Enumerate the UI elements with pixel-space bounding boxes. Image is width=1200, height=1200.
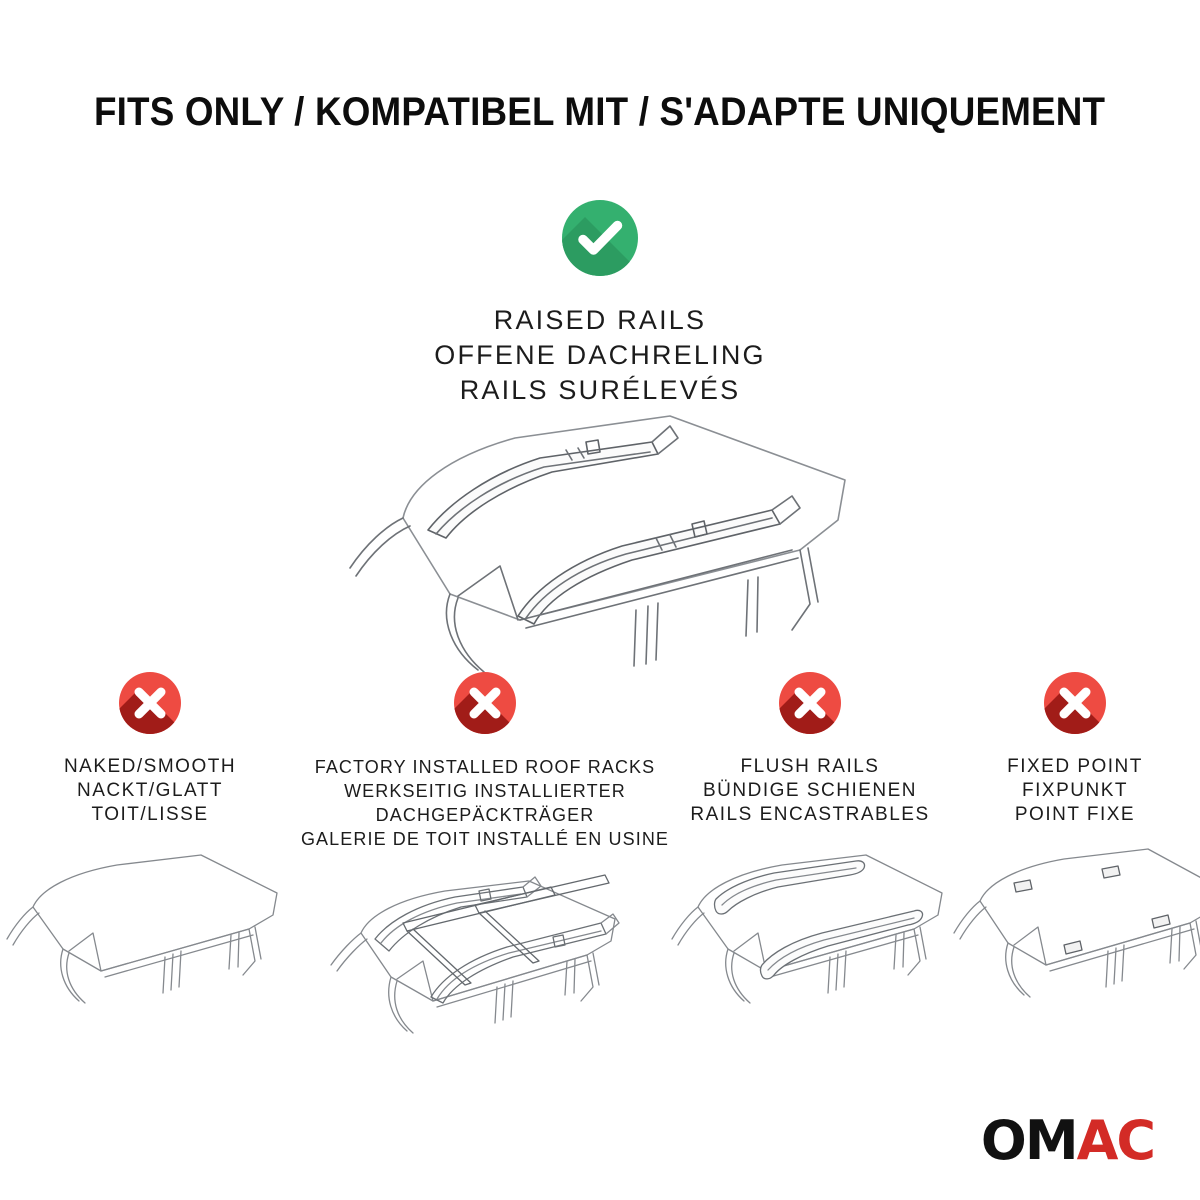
incompatible-section: NAKED/SMOOTH NACKT/GLATT TOIT/LISSE (0, 672, 1200, 1081)
flush-rails-illustration (670, 837, 950, 1057)
label-fr: POINT FIXE (950, 803, 1200, 827)
label-fr: GALERIE DE TOIT INSTALLÉ EN USINE (300, 827, 670, 851)
bare-roof-illustration (0, 837, 300, 1057)
omac-logo-part1: OM (981, 1109, 1077, 1172)
x-mark-glyph (1044, 672, 1106, 734)
x-circle-icon (454, 672, 516, 734)
compatible-section: RAISED RAILS OFFENE DACHRELING RAILS SUR… (0, 200, 1200, 408)
page-title-text: FITS ONLY / KOMPATIBEL MIT / S'ADAPTE UN… (94, 88, 1105, 136)
x-mark-glyph (119, 672, 181, 734)
incompatible-column-naked-smooth: NAKED/SMOOTH NACKT/GLATT TOIT/LISSE (0, 672, 300, 1057)
x-circle-icon (779, 672, 841, 734)
car-roof-factory-crossbars-drawing (315, 861, 655, 1071)
compatible-label-de: OFFENE DACHRELING (0, 338, 1200, 373)
incompatible-labels: NAKED/SMOOTH NACKT/GLATT TOIT/LISSE (0, 755, 300, 827)
incompatible-labels: FLUSH RAILS BÜNDIGE SCHIENEN RAILS ENCAS… (670, 755, 950, 827)
car-roof-flush-rails-drawing (670, 837, 960, 1047)
x-circle-icon (1044, 672, 1106, 734)
label-de: FIXPUNKT (950, 779, 1200, 803)
incompatible-labels: FACTORY INSTALLED ROOF RACKS WERKSEITIG … (300, 755, 670, 851)
incompatible-column-fixed-point: FIXED POINT FIXPUNKT POINT FIXE (950, 672, 1200, 1057)
label-en: NAKED/SMOOTH (0, 755, 300, 779)
car-roof-raised-rails-drawing (340, 398, 860, 678)
factory-racks-illustration (300, 861, 670, 1081)
label-de-1: WERKSEITIG INSTALLIERTER (300, 779, 670, 803)
omac-logo: OMAC (981, 1114, 1154, 1168)
raised-rails-illustration (340, 398, 860, 678)
label-en: FIXED POINT (950, 755, 1200, 779)
compatible-label-en: RAISED RAILS (0, 303, 1200, 338)
incompatible-labels: FIXED POINT FIXPUNKT POINT FIXE (950, 755, 1200, 827)
page-title: FITS ONLY / KOMPATIBEL MIT / S'ADAPTE UN… (0, 88, 1200, 136)
incompatible-column-factory-racks: FACTORY INSTALLED ROOF RACKS WERKSEITIG … (300, 672, 670, 1081)
check-circle-icon (562, 200, 638, 276)
fixed-point-illustration (950, 837, 1200, 1057)
incompatible-column-flush-rails: FLUSH RAILS BÜNDIGE SCHIENEN RAILS ENCAS… (670, 672, 950, 1057)
check-mark-glyph (562, 200, 638, 276)
label-de: NACKT/GLATT (0, 779, 300, 803)
label-de-2: DACHGEPÄCKTRÄGER (300, 803, 670, 827)
x-mark-glyph (779, 672, 841, 734)
label-de: BÜNDIGE SCHIENEN (670, 779, 950, 803)
omac-logo-part2: AC (1077, 1109, 1154, 1172)
label-en: FACTORY INSTALLED ROOF RACKS (300, 755, 670, 779)
x-circle-icon (119, 672, 181, 734)
car-roof-fixed-points-drawing (950, 837, 1200, 1047)
car-roof-bare-drawing (5, 837, 295, 1047)
compatible-labels: RAISED RAILS OFFENE DACHRELING RAILS SUR… (0, 303, 1200, 408)
label-fr: RAILS ENCASTRABLES (670, 803, 950, 827)
x-mark-glyph (454, 672, 516, 734)
label-fr: TOIT/LISSE (0, 803, 300, 827)
label-en: FLUSH RAILS (670, 755, 950, 779)
